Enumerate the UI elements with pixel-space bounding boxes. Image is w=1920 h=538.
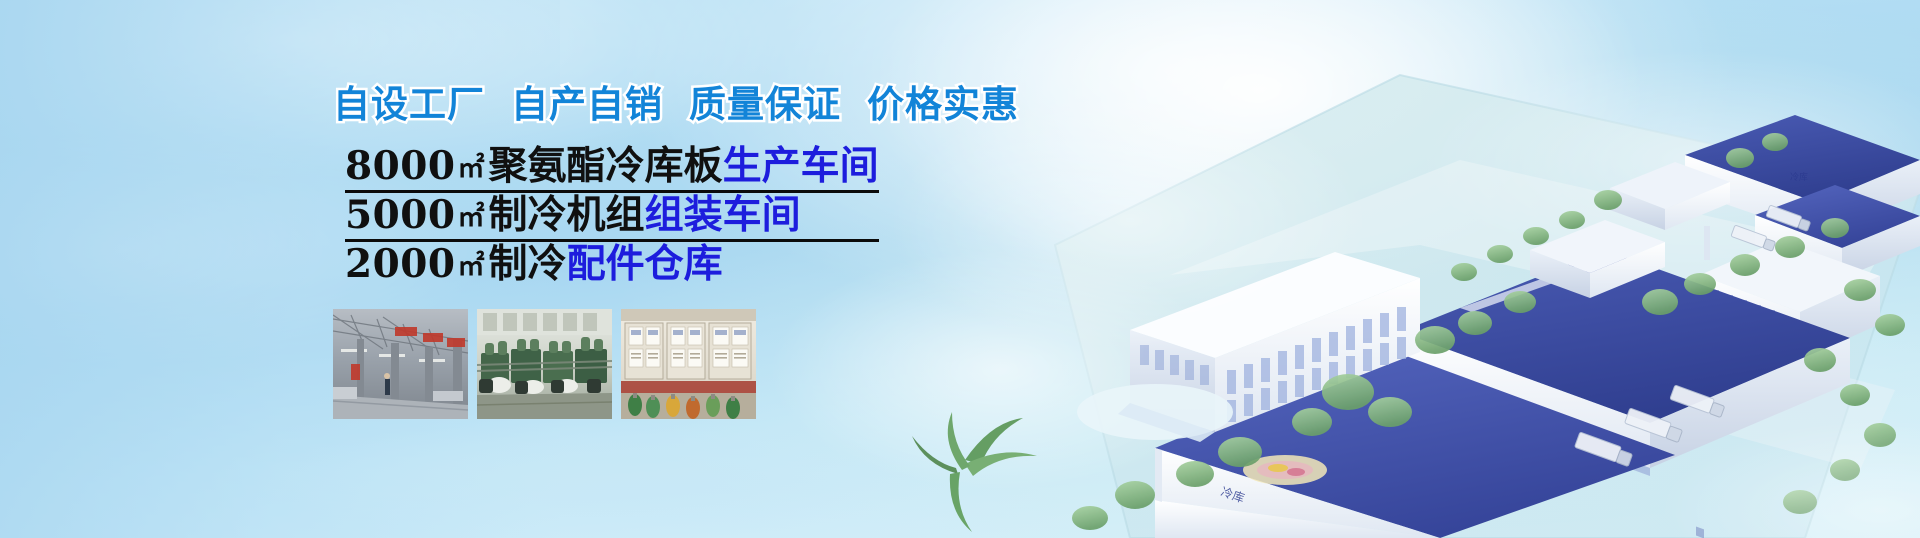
foreground-palm xyxy=(912,412,1037,532)
spec-2-black-text: 制冷机组 xyxy=(489,192,645,238)
refrigeration-compressor-units-photo xyxy=(477,309,612,419)
warehouse-building-long-b: 冷库 xyxy=(1155,350,1675,538)
banner-headline: 自设工厂自产自销质量保证价格实惠 xyxy=(333,74,1019,128)
svg-text:冷库: 冷库 xyxy=(1219,484,1247,506)
spec-line-1: 8000㎡聚氨酯冷库板生产车间 xyxy=(345,147,879,193)
factory-workshop-interior-photo xyxy=(333,309,468,419)
spec-3-black-text: 制冷 xyxy=(489,241,567,287)
landscaping-trees xyxy=(912,133,1905,532)
site-roadways xyxy=(1170,160,1895,470)
site-ground-plate xyxy=(1055,75,1920,538)
spec-2-number: 5000 xyxy=(345,192,456,238)
spec-3-unit: ㎡ xyxy=(456,251,489,282)
promotional-banner: 冷库 xyxy=(0,0,1920,538)
spec-2-blue-text: 组装车间 xyxy=(645,192,801,238)
headline-segment-4: 价格实惠 xyxy=(867,83,1019,126)
svg-text:冷库: 冷库 xyxy=(1479,401,1504,421)
headline-segment-3: 质量保证 xyxy=(689,83,841,126)
facility-spec-list: 8000㎡聚氨酯冷库板生产车间 5000㎡制冷机组组装车间 2000㎡制冷配件仓… xyxy=(345,147,879,290)
auxiliary-buildings xyxy=(1530,162,1730,298)
warehouse-building-long-a: 冷库 xyxy=(1400,250,1850,476)
warehouse-building-far: 冷库 xyxy=(1685,115,1920,538)
spec-1-number: 8000 xyxy=(345,143,456,189)
entrance-plaza xyxy=(1077,384,1327,485)
spec-3-blue-text: 配件仓库 xyxy=(567,241,723,287)
office-building-right xyxy=(1700,240,1880,360)
warehouse-building-second xyxy=(1755,185,1920,278)
facility-photo-strip xyxy=(333,309,756,419)
text-area-soft-glow xyxy=(250,420,950,538)
spec-1-blue-text: 生产车间 xyxy=(723,143,879,189)
delivery-trucks xyxy=(1575,205,1812,467)
spec-2-unit: ㎡ xyxy=(456,202,489,233)
spec-3-number: 2000 xyxy=(345,241,456,287)
spec-line-3: 2000㎡制冷配件仓库 xyxy=(345,245,879,288)
svg-text:冷库: 冷库 xyxy=(1790,171,1808,183)
spec-1-black-text: 聚氨酯冷库板 xyxy=(489,143,723,189)
office-building-main xyxy=(1130,252,1420,432)
headline-segment-1: 自设工厂 xyxy=(333,83,485,126)
display-board-panels xyxy=(625,323,751,379)
parts-display-boards-photo xyxy=(621,309,756,419)
spec-1-unit: ㎡ xyxy=(456,153,489,184)
headline-segment-2: 自产自销 xyxy=(511,83,663,126)
spec-line-2: 5000㎡制冷机组组装车间 xyxy=(345,196,879,242)
top-glow-highlight xyxy=(880,0,1640,300)
